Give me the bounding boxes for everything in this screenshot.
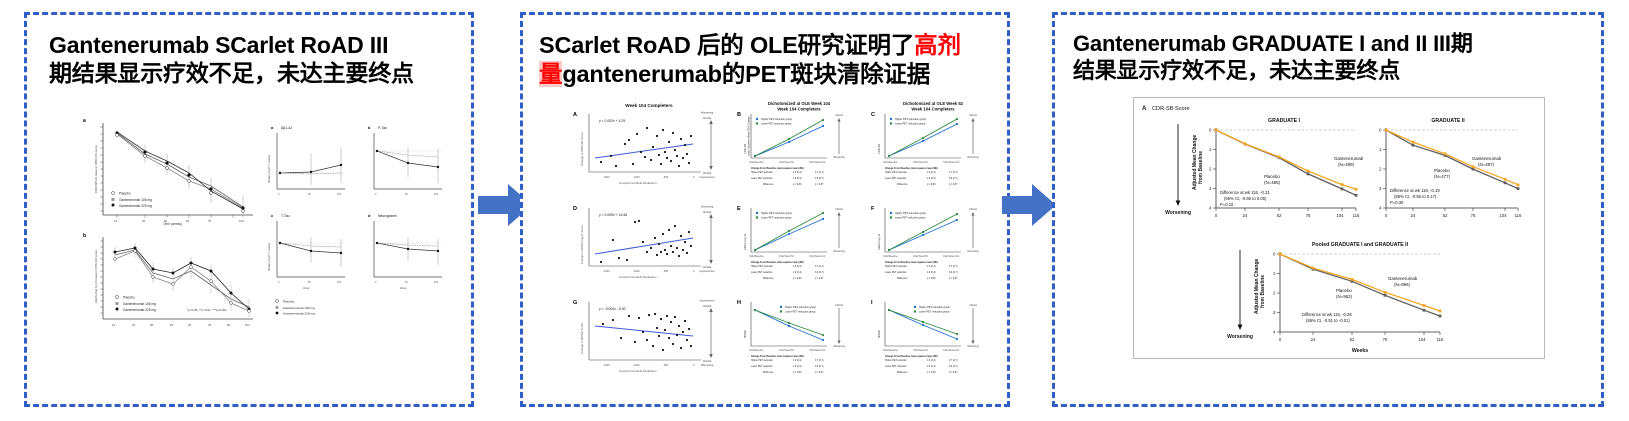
svg-text:Worsening: Worsening — [967, 156, 979, 159]
svg-text:(95% CI, -0.55 to 0.17): (95% CI, -0.55 to 0.17) — [1394, 194, 1437, 199]
svg-text:Lower PET reduction: Lower PET reduction — [751, 365, 773, 368]
svg-text:52: 52 — [1443, 213, 1448, 218]
svg-text:Gantenerumab 105 mg: Gantenerumab 105 mg — [283, 306, 315, 310]
svg-text:-1500: -1500 — [603, 269, 610, 273]
svg-text:Gantenerumab: Gantenerumab — [1334, 156, 1364, 161]
svg-text:Clinical: Clinical — [969, 114, 977, 117]
svg-text:3.9 (0.7): 3.9 (0.7) — [949, 272, 958, 274]
panel-2-figure-area: Week 104 Completers Dichotomized at OLE … — [535, 94, 995, 398]
svg-text:p = 0.80: p = 0.80 — [927, 184, 936, 186]
svg-text:78: 78 — [208, 323, 212, 327]
scarlet-road-figure: Placebo Gantenerumab 105 mg Gantenerumab… — [69, 115, 459, 335]
svg-text:1.6 (0.4): 1.6 (0.4) — [927, 172, 936, 174]
svg-text:Weeks: Weeks — [1352, 348, 1368, 354]
svg-text:OLE Week 52: OLE Week 52 — [913, 161, 929, 164]
worsening-arrow-bottom: Worsening — [1227, 250, 1253, 340]
svg-text:Dichotomized at OLE Week 52: Dichotomized at OLE Week 52 — [903, 101, 964, 106]
svg-text:y = 0.002x + 4.29: y = 0.002x + 4.29 — [599, 119, 625, 123]
svg-text:12: 12 — [114, 219, 118, 223]
svg-text:Difference at wk 116, -0.19: Difference at wk 116, -0.19 — [1390, 188, 1440, 193]
svg-text:116: 116 — [1515, 213, 1522, 218]
svg-text:Higher PET reduction: Higher PET reduction — [751, 171, 774, 174]
svg-text:26: 26 — [132, 323, 136, 327]
svg-text:52: 52 — [1350, 337, 1355, 342]
svg-text:ADAS-Cog 13 LS mean (± 95% CI): ADAS-Cog 13 LS mean (± 95% CI) score — [94, 250, 98, 303]
panel-1-title: Gantenerumab SCarlet RoAD III 期结果显示疗效不足，… — [49, 31, 455, 87]
svg-text:Lower PET reduction: Lower PET reduction — [751, 271, 773, 274]
svg-text:52: 52 — [164, 219, 168, 223]
svg-text:b: b — [83, 233, 86, 239]
svg-text:Clinical: Clinical — [703, 359, 712, 363]
svg-text:Week 104 Completers: Week 104 Completers — [911, 107, 955, 112]
svg-text:-500: -500 — [663, 175, 669, 179]
graduate-plots: A CDR-SB Score Worsening Adjusted Mean C… — [1134, 98, 1546, 360]
svg-text:0: 0 — [278, 281, 280, 284]
svg-text:Clinical: Clinical — [969, 304, 977, 307]
svg-text:90: 90 — [227, 323, 231, 327]
svg-text:Higher PET reduction group: Higher PET reduction group — [919, 306, 951, 309]
svg-text:Clinical: Clinical — [703, 171, 712, 175]
svg-text:3.9 (0.7): 3.9 (0.7) — [815, 366, 824, 368]
svg-text:Lower PET reduction group: Lower PET reduction group — [895, 217, 926, 220]
panel-ole-pet: SCarlet RoAD 后的 OLE研究证明了高剂量gantenerumab的… — [520, 12, 1010, 407]
svg-text:Improvement: Improvement — [699, 175, 714, 179]
svg-text:0: 0 — [693, 175, 695, 179]
svg-text:E: E — [737, 206, 741, 212]
svg-text:(N=499): (N=499) — [1338, 162, 1355, 167]
svg-text:-1500: -1500 — [603, 175, 610, 179]
svg-text:0: 0 — [278, 193, 280, 196]
svg-text:Clinical: Clinical — [703, 116, 712, 120]
svg-text:-1500: -1500 — [603, 363, 610, 367]
svg-text:0: 0 — [1215, 213, 1218, 218]
svg-text:64: 64 — [186, 219, 190, 223]
svg-text:3.9 (0.7): 3.9 (0.7) — [949, 178, 958, 180]
svg-text:Amyloid Centiloid Reduction: Amyloid Centiloid Reduction — [619, 369, 657, 373]
svg-text:Difference: Difference — [897, 371, 908, 374]
panel-scarlet-road: Gantenerumab SCarlet RoAD III 期结果显示疗效不足，… — [24, 12, 474, 407]
svg-text:Worsening: Worsening — [701, 205, 714, 209]
svg-text:Lower PET reduction: Lower PET reduction — [885, 271, 907, 274]
svg-text:P-Tau: P-Tau — [378, 126, 387, 130]
svg-text:Lower PET reduction group: Lower PET reduction group — [761, 123, 792, 126]
svg-text:A: A — [573, 112, 577, 118]
svg-text:Lower PET reduction group: Lower PET reduction group — [785, 311, 816, 314]
svg-text:3: 3 — [1209, 186, 1212, 191]
svg-text:3.7 (0.7): 3.7 (0.7) — [949, 360, 958, 362]
svg-text:3.7 (0.7): 3.7 (0.7) — [949, 266, 958, 268]
panel-3-title: Gantenerumab GRADUATE I and II III期 结果显示… — [1073, 31, 1585, 85]
slide-canvas: Gantenerumab SCarlet RoAD III 期结果显示疗效不足，… — [0, 0, 1629, 421]
svg-text:0: 0 — [1385, 213, 1388, 218]
svg-text:-500: -500 — [663, 269, 669, 273]
svg-text:1.6 (0.4): 1.6 (0.4) — [793, 360, 802, 362]
svg-text:3: 3 — [1379, 186, 1382, 191]
arrow-right-2 — [1002, 182, 1056, 228]
svg-text:-1000: -1000 — [633, 175, 640, 179]
svg-text:26: 26 — [142, 219, 146, 223]
svg-text:(95% CI, -0.66 to 0.05): (95% CI, -0.66 to 0.05) — [1224, 196, 1267, 201]
svg-text:Lower PET reduction group: Lower PET reduction group — [895, 123, 926, 126]
svg-text:3.7 (0.7): 3.7 (0.7) — [949, 172, 958, 174]
panel-graduate: Gantenerumab GRADUATE I and II III期 结果显示… — [1052, 12, 1604, 407]
svg-text:104: 104 — [337, 193, 342, 196]
svg-text:3.7 (0.7): 3.7 (0.7) — [815, 172, 824, 174]
svg-text:52: 52 — [405, 193, 408, 196]
svg-text:Neurogranin: Neurogranin — [378, 214, 397, 218]
svg-text:24: 24 — [1311, 337, 1316, 342]
svg-text:p = 0.80: p = 0.80 — [793, 372, 802, 374]
svg-text:24: 24 — [1243, 213, 1248, 218]
svg-text:Clinical: Clinical — [703, 210, 712, 214]
svg-text:p = 0.87: p = 0.87 — [815, 184, 824, 186]
svg-text:Change in MMSE Score: Change in MMSE Score — [580, 323, 584, 354]
svg-text:Clinical: Clinical — [703, 304, 712, 308]
svg-text:Clinical: Clinical — [835, 208, 843, 211]
svg-text:Worsening: Worsening — [701, 111, 714, 115]
svg-text:104: 104 — [1499, 213, 1507, 218]
svg-text:Median (±IQR) % change: Median (±IQR) % change — [268, 154, 271, 183]
svg-text:1.6 (0.4): 1.6 (0.4) — [793, 266, 802, 268]
svg-text:P=0.30: P=0.30 — [1390, 200, 1404, 205]
svg-text:Placebo: Placebo — [1264, 174, 1280, 179]
svg-text:Week: Week — [303, 287, 310, 290]
svg-text:OLE Week 104: OLE Week 104 — [943, 349, 960, 352]
svg-text:116: 116 — [1353, 213, 1360, 218]
svg-text:76: 76 — [1383, 337, 1388, 342]
svg-text:3.7 (0.7): 3.7 (0.7) — [815, 266, 824, 268]
panel-2-title: SCarlet RoAD 后的 OLE研究证明了高剂量gantenerumab的… — [539, 31, 991, 88]
svg-text:Higher PET reduction group: Higher PET reduction group — [761, 212, 793, 215]
svg-text:(N=477): (N=477) — [1434, 174, 1451, 179]
svg-text:(95% CI, -0.51 to -0.01): (95% CI, -0.51 to -0.01) — [1306, 318, 1350, 323]
svg-text:1.9 (0.4): 1.9 (0.4) — [927, 366, 936, 368]
svg-text:Change From Baseline, least sq: Change From Baseline, least squares mean… — [885, 261, 938, 264]
svg-text:Placebo: Placebo — [1336, 288, 1352, 293]
svg-text:Week 104 Completers: Week 104 Completers — [625, 103, 673, 108]
svg-text:78: 78 — [208, 219, 212, 223]
svg-text:Gantenerumab 225 mg: Gantenerumab 225 mg — [123, 308, 156, 312]
svg-text:52: 52 — [308, 193, 311, 196]
svg-text:Pooled GRADUATE I and GRADUATE: Pooled GRADUATE I and GRADUATE II — [1312, 242, 1409, 248]
ole-pet-plots: Week 104 Completers Dichotomized at OLE … — [541, 98, 1003, 383]
svg-text:C: C — [871, 112, 875, 118]
svg-text:Difference: Difference — [763, 371, 774, 374]
svg-text:y = -0.002x - 6.00: y = -0.002x - 6.00 — [599, 307, 626, 311]
svg-text:ADAS-Cog 11: ADAS-Cog 11 — [877, 234, 881, 251]
svg-text:I: I — [871, 300, 873, 306]
svg-text:Placebo: Placebo — [119, 192, 131, 196]
svg-text:Clinical: Clinical — [835, 114, 843, 117]
svg-text:76: 76 — [1471, 213, 1476, 218]
svg-text:G: G — [573, 300, 577, 306]
svg-text:1.6 (0.4): 1.6 (0.4) — [793, 172, 802, 174]
svg-text:OLE Week 104: OLE Week 104 — [943, 161, 960, 164]
svg-text:Higher PET reduction: Higher PET reduction — [885, 359, 908, 362]
svg-text:H: H — [737, 300, 741, 306]
svg-text:p = 0.87: p = 0.87 — [949, 278, 958, 280]
svg-text:Worsening: Worsening — [833, 250, 845, 253]
svg-text:Amyloid Centiloid Reduction: Amyloid Centiloid Reduction — [619, 181, 657, 185]
svg-text:0: 0 — [1279, 337, 1282, 342]
svg-text:104: 104 — [337, 281, 342, 284]
svg-text:Higher PET reduction: Higher PET reduction — [751, 265, 774, 268]
panel-1-footnote: *p<0.05, **p<0.01, ***p<0.001 — [187, 308, 227, 312]
scarlet-road-plots: Placebo Gantenerumab 105 mg Gantenerumab… — [69, 115, 459, 335]
svg-text:from Baseline: from Baseline — [1260, 274, 1266, 307]
panel-2-title-part-1: SCarlet RoAD 后的 OLE研究证明了 — [539, 32, 914, 58]
svg-text:Gantenerumab: Gantenerumab — [1388, 276, 1418, 281]
svg-text:104: 104 — [434, 193, 439, 196]
svg-text:3.9 (0.7): 3.9 (0.7) — [815, 178, 824, 180]
svg-text:0: 0 — [375, 281, 377, 284]
svg-text:0: 0 — [375, 193, 377, 196]
svg-text:Week 104 Completers: Week 104 Completers — [777, 107, 821, 112]
svg-text:104: 104 — [1418, 337, 1426, 342]
svg-text:Change From Baseline, least sq: Change From Baseline, least squares mean… — [751, 261, 804, 264]
svg-text:A: A — [1142, 106, 1147, 112]
svg-text:MMSE: MMSE — [877, 330, 881, 338]
svg-text:Worsening: Worsening — [967, 345, 979, 348]
svg-text:p = 0.80: p = 0.80 — [927, 278, 936, 280]
worsening-arrow-top: Worsening — [1165, 124, 1191, 216]
svg-text:104: 104 — [434, 281, 439, 284]
svg-text:0: 0 — [1379, 127, 1382, 132]
svg-text:3: 3 — [1273, 310, 1276, 315]
svg-text:OLE Week 52: OLE Week 52 — [913, 255, 929, 258]
svg-text:3.9 (0.7): 3.9 (0.7) — [815, 272, 824, 274]
svg-text:Least Squares Mean (SE) Change: Least Squares Mean (SE) Change — [747, 116, 751, 156]
panel-3-title-line2: 结果显示疗效不足，未达主要终点 — [1073, 58, 1400, 83]
svg-text:Improvement: Improvement — [699, 269, 714, 273]
svg-text:CDR-SB: CDR-SB — [877, 144, 881, 154]
svg-text:c: c — [271, 213, 274, 218]
panel-1-title-line2: 期结果显示疗效不足，未达主要终点 — [49, 60, 414, 86]
svg-text:T-Tau: T-Tau — [281, 214, 290, 218]
svg-text:OLE Baseline: OLE Baseline — [883, 349, 898, 352]
svg-text:104: 104 — [245, 323, 250, 327]
svg-text:Gantenerumab 105 mg: Gantenerumab 105 mg — [123, 302, 156, 306]
svg-text:52: 52 — [308, 281, 311, 284]
svg-text:3.7 (0.7): 3.7 (0.7) — [815, 360, 824, 362]
svg-text:4: 4 — [1273, 329, 1276, 334]
svg-text:Clinical: Clinical — [835, 304, 843, 307]
svg-text:104: 104 — [1336, 213, 1344, 218]
svg-text:1.9 (0.4): 1.9 (0.4) — [927, 178, 936, 180]
svg-text:GRADUATE I: GRADUATE I — [1268, 118, 1300, 124]
svg-text:p = 0.87: p = 0.87 — [815, 372, 824, 374]
svg-text:0: 0 — [1273, 251, 1276, 256]
svg-text:Higher PET reduction: Higher PET reduction — [885, 265, 908, 268]
svg-text:Change From Baseline, least sq: Change From Baseline, least squares mean… — [885, 167, 938, 170]
svg-text:1: 1 — [1273, 271, 1276, 276]
svg-text:-1000: -1000 — [633, 363, 640, 367]
svg-text:Difference: Difference — [897, 277, 908, 280]
svg-text:Median (±IQR) % change: Median (±IQR) % change — [268, 242, 271, 271]
svg-text:1.6 (0.4): 1.6 (0.4) — [927, 360, 936, 362]
svg-text:Higher PET reduction group: Higher PET reduction group — [895, 118, 927, 121]
ole-pet-figure: Week 104 Completers Dichotomized at OLE … — [541, 98, 1003, 383]
svg-text:Difference at wk 116, -0.31: Difference at wk 116, -0.31 — [1220, 190, 1270, 195]
svg-text:Placebo: Placebo — [1434, 168, 1450, 173]
svg-text:b: b — [368, 125, 371, 130]
svg-text:4: 4 — [1209, 205, 1212, 210]
svg-text:p = 0.87: p = 0.87 — [815, 278, 824, 280]
svg-text:p = 0.87: p = 0.87 — [949, 184, 958, 186]
svg-text:Difference at wk 116, -0.26: Difference at wk 116, -0.26 — [1302, 312, 1352, 317]
svg-text:1.9 (0.4): 1.9 (0.4) — [793, 366, 802, 368]
svg-text:12: 12 — [112, 323, 116, 327]
svg-text:p = 0.87: p = 0.87 — [949, 372, 958, 374]
svg-text:52: 52 — [170, 323, 174, 327]
svg-text:Clinical: Clinical — [703, 265, 712, 269]
svg-text:-500: -500 — [663, 363, 669, 367]
svg-text:Difference: Difference — [763, 183, 774, 186]
svg-text:OLE Baseline: OLE Baseline — [883, 161, 898, 164]
svg-text:F: F — [871, 206, 875, 212]
svg-text:y = 0.009x + 14.66: y = 0.009x + 14.66 — [599, 213, 627, 217]
svg-text:p = 0.80: p = 0.80 — [793, 278, 802, 280]
svg-text:Placebo: Placebo — [123, 296, 135, 300]
svg-text:Worsening: Worsening — [1165, 210, 1191, 216]
svg-text:1.6 (0.4): 1.6 (0.4) — [927, 266, 936, 268]
svg-text:ADAS-Cog 11: ADAS-Cog 11 — [743, 234, 747, 251]
svg-text:Lower PET reduction: Lower PET reduction — [885, 365, 907, 368]
svg-text:Higher PET reduction: Higher PET reduction — [885, 171, 908, 174]
svg-text:Change From Baseline, least sq: Change From Baseline, least squares mean… — [751, 167, 804, 170]
svg-text:Difference: Difference — [763, 277, 774, 280]
svg-text:Worsening: Worsening — [1227, 334, 1253, 340]
svg-text:Clinical: Clinical — [969, 208, 977, 211]
svg-text:Gantenerumab 225 mg: Gantenerumab 225 mg — [119, 204, 152, 208]
svg-text:OLE Week 104: OLE Week 104 — [943, 255, 960, 258]
svg-text:OLE Week 104: OLE Week 104 — [809, 349, 826, 352]
svg-text:CDR-SB Score: CDR-SB Score — [1152, 106, 1190, 112]
panel-2-title-part-3: 量 — [539, 61, 562, 87]
svg-text:OLE Week 52: OLE Week 52 — [779, 255, 795, 258]
svg-text:Change in CDR-SB Score: Change in CDR-SB Score — [580, 133, 584, 167]
svg-text:104: 104 — [239, 219, 244, 223]
svg-text:a: a — [83, 118, 86, 124]
panel-2-title-part-2: 高剂 — [914, 32, 961, 58]
svg-text:MMSE: MMSE — [743, 330, 747, 338]
svg-text:OLE Week 52: OLE Week 52 — [779, 349, 795, 352]
svg-text:2: 2 — [1273, 290, 1276, 295]
panel-1-title-line1: Gantenerumab SCarlet RoAD III — [49, 32, 388, 58]
panel-3-title-line1: Gantenerumab GRADUATE I and II III期 — [1073, 31, 1473, 56]
svg-text:Higher PET reduction group: Higher PET reduction group — [785, 306, 817, 309]
svg-text:1.9 (0.4): 1.9 (0.4) — [927, 272, 936, 274]
svg-text:a: a — [271, 125, 274, 130]
svg-text:0: 0 — [693, 269, 695, 273]
svg-text:Difference: Difference — [897, 183, 908, 186]
svg-text:1.9 (0.4): 1.9 (0.4) — [793, 178, 802, 180]
svg-text:OLE Week 52: OLE Week 52 — [779, 161, 795, 164]
svg-text:Worsening: Worsening — [967, 250, 979, 253]
svg-text:24: 24 — [1411, 213, 1416, 218]
svg-text:p = 0.80: p = 0.80 — [927, 372, 936, 374]
svg-text:(N=497): (N=497) — [1478, 162, 1495, 167]
svg-text:p = 0.80: p = 0.80 — [793, 184, 802, 186]
svg-text:Lower PET reduction: Lower PET reduction — [885, 177, 907, 180]
graduate-figure: A CDR-SB Score Worsening Adjusted Mean C… — [1133, 97, 1545, 359]
svg-text:1: 1 — [1379, 147, 1382, 152]
svg-text:2: 2 — [1379, 166, 1382, 171]
svg-text:-1000: -1000 — [633, 269, 640, 273]
svg-text:from Baseline: from Baseline — [1198, 150, 1204, 183]
svg-text:1: 1 — [1209, 147, 1212, 152]
svg-text:4: 4 — [1379, 205, 1382, 210]
svg-text:OLE Baseline: OLE Baseline — [883, 255, 898, 258]
svg-text:Worsening: Worsening — [833, 156, 845, 159]
svg-text:Amyloid Centiloid Reduction: Amyloid Centiloid Reduction — [619, 275, 657, 279]
svg-text:Change From Baseline, least sq: Change From Baseline, least squares mean… — [751, 355, 804, 358]
svg-text:Higher PET reduction group: Higher PET reduction group — [761, 118, 793, 121]
svg-text:Improvement: Improvement — [699, 299, 714, 303]
svg-text:64: 64 — [188, 323, 192, 327]
svg-text:Change in ADAS-Cog 11 Score: Change in ADAS-Cog 11 Score — [580, 225, 584, 264]
svg-text:1.9 (0.4): 1.9 (0.4) — [793, 272, 802, 274]
svg-text:Placebo: Placebo — [283, 299, 294, 303]
svg-text:Worsening: Worsening — [833, 345, 845, 348]
svg-text:Lower PET reduction group: Lower PET reduction group — [919, 311, 950, 314]
panel-3-figure-area: A CDR-SB Score Worsening Adjusted Mean C… — [1067, 91, 1589, 398]
svg-text:116: 116 — [1437, 337, 1444, 342]
svg-text:OLE Baseline: OLE Baseline — [749, 349, 764, 352]
svg-text:76: 76 — [1306, 213, 1311, 218]
svg-text:Aβ1-42: Aβ1-42 — [281, 126, 292, 130]
panel-1-figure-area: Placebo Gantenerumab 105 mg Gantenerumab… — [39, 93, 459, 398]
svg-text:(N=485): (N=485) — [1264, 180, 1281, 185]
svg-text:B: B — [737, 112, 741, 118]
svg-text:Higher PET reduction: Higher PET reduction — [751, 359, 774, 362]
svg-text:Gantenerumab 105 mg: Gantenerumab 105 mg — [119, 198, 152, 202]
svg-text:CDR-SB LS mean (± 95% CI) scor: CDR-SB LS mean (± 95% CI) score — [94, 145, 98, 193]
svg-text:52: 52 — [405, 281, 408, 284]
svg-text:OLE Week 104: OLE Week 104 — [809, 161, 826, 164]
svg-text:(N=962): (N=962) — [1336, 294, 1353, 299]
svg-text:GRADUATE II: GRADUATE II — [1431, 118, 1465, 124]
svg-text:P=0.10: P=0.10 — [1220, 202, 1234, 207]
svg-text:OLE Baseline: OLE Baseline — [749, 161, 764, 164]
svg-text:OLE Week 52: OLE Week 52 — [913, 349, 929, 352]
svg-text:D: D — [573, 206, 577, 212]
panel-2-title-part-4: gantenerumab的PET斑块清除证据 — [562, 61, 930, 87]
svg-text:Lower PET reduction: Lower PET reduction — [751, 177, 773, 180]
svg-text:52: 52 — [1277, 213, 1282, 218]
svg-text:Week: Week — [400, 287, 407, 290]
svg-text:Gantenerumab: Gantenerumab — [1472, 156, 1502, 161]
svg-text:CDR-SB: CDR-SB — [743, 144, 747, 154]
svg-text:Dichotomized at OLE Week 104: Dichotomized at OLE Week 104 — [768, 101, 831, 106]
svg-text:38: 38 — [150, 323, 154, 327]
svg-text:Change From Baseline, least sq: Change From Baseline, least squares mean… — [885, 355, 938, 358]
svg-text:(N=996): (N=996) — [1394, 282, 1411, 287]
svg-text:Gantenerumab 225 mg: Gantenerumab 225 mg — [283, 312, 315, 316]
svg-text:0: 0 — [693, 363, 695, 367]
svg-text:Lower PET reduction group: Lower PET reduction group — [761, 217, 792, 220]
svg-text:2: 2 — [1209, 166, 1212, 171]
svg-text:3.9 (0.7): 3.9 (0.7) — [949, 366, 958, 368]
svg-text:d: d — [368, 213, 371, 218]
svg-text:OLE Week 104: OLE Week 104 — [809, 255, 826, 258]
svg-text:OLE Baseline: OLE Baseline — [749, 255, 764, 258]
svg-text:0: 0 — [1209, 127, 1212, 132]
svg-text:Worsening: Worsening — [701, 363, 714, 367]
svg-text:Higher PET reduction group: Higher PET reduction group — [895, 212, 927, 215]
